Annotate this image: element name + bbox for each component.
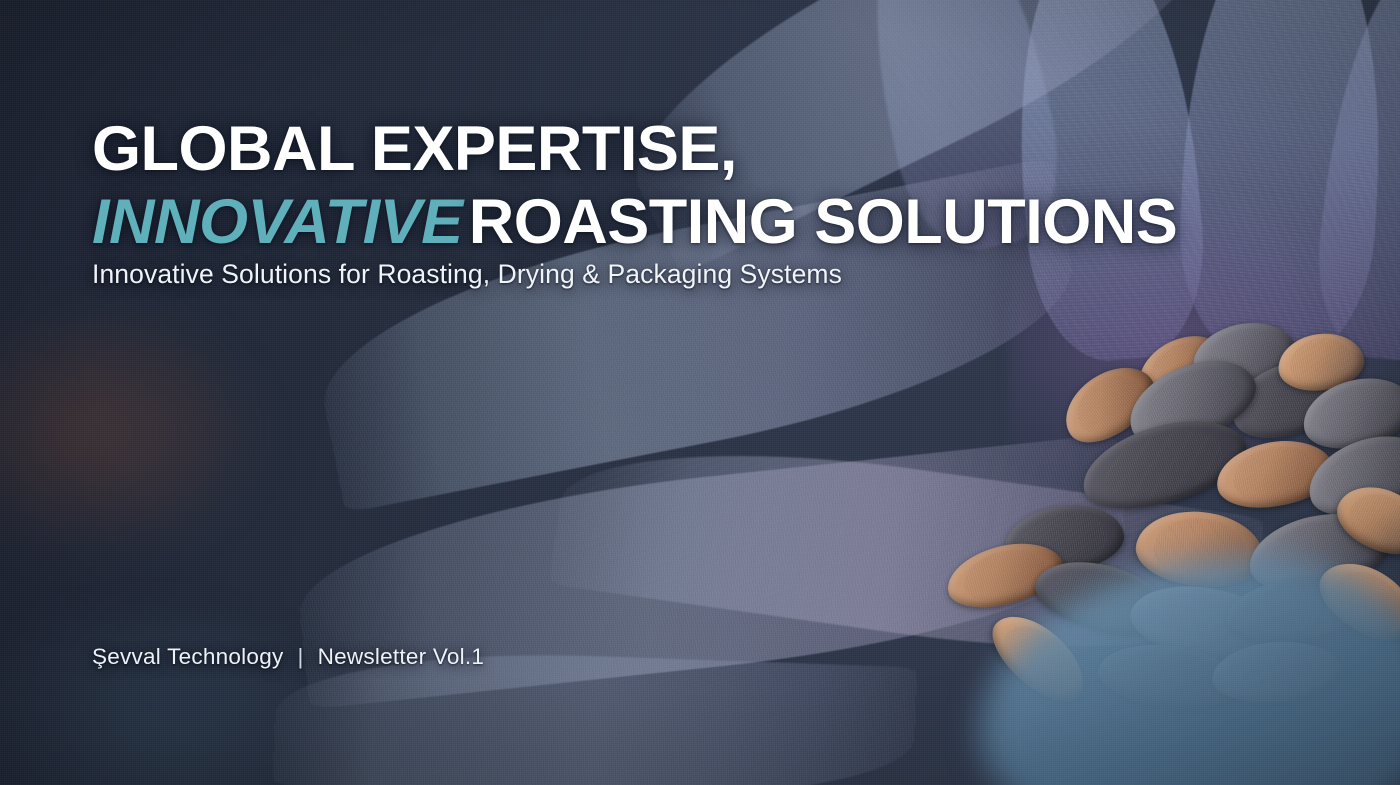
- newsletter-cover: GLOBAL EXPERTISE, INNOVATIVEROASTING SOL…: [0, 0, 1400, 785]
- footer-credit: Şevval Technology | Newsletter Vol.1: [92, 644, 484, 670]
- headline-emphasis-innovative: INNOVATIVE: [92, 187, 469, 257]
- footer-separator: |: [297, 644, 303, 670]
- page-subtitle: Innovative Solutions for Roasting, Dryin…: [92, 259, 842, 290]
- headline-line-2-rest: ROASTING SOLUTIONS: [469, 187, 1178, 257]
- headline-line-2: INNOVATIVEROASTING SOLUTIONS: [92, 191, 1177, 254]
- cover-content: GLOBAL EXPERTISE, INNOVATIVEROASTING SOL…: [0, 0, 1400, 785]
- headline-line-1: GLOBAL EXPERTISE,: [92, 118, 1177, 181]
- page-title: GLOBAL EXPERTISE, INNOVATIVEROASTING SOL…: [92, 118, 1177, 254]
- brand-name: Şevval Technology: [92, 644, 283, 670]
- newsletter-issue: Newsletter Vol.1: [318, 644, 485, 670]
